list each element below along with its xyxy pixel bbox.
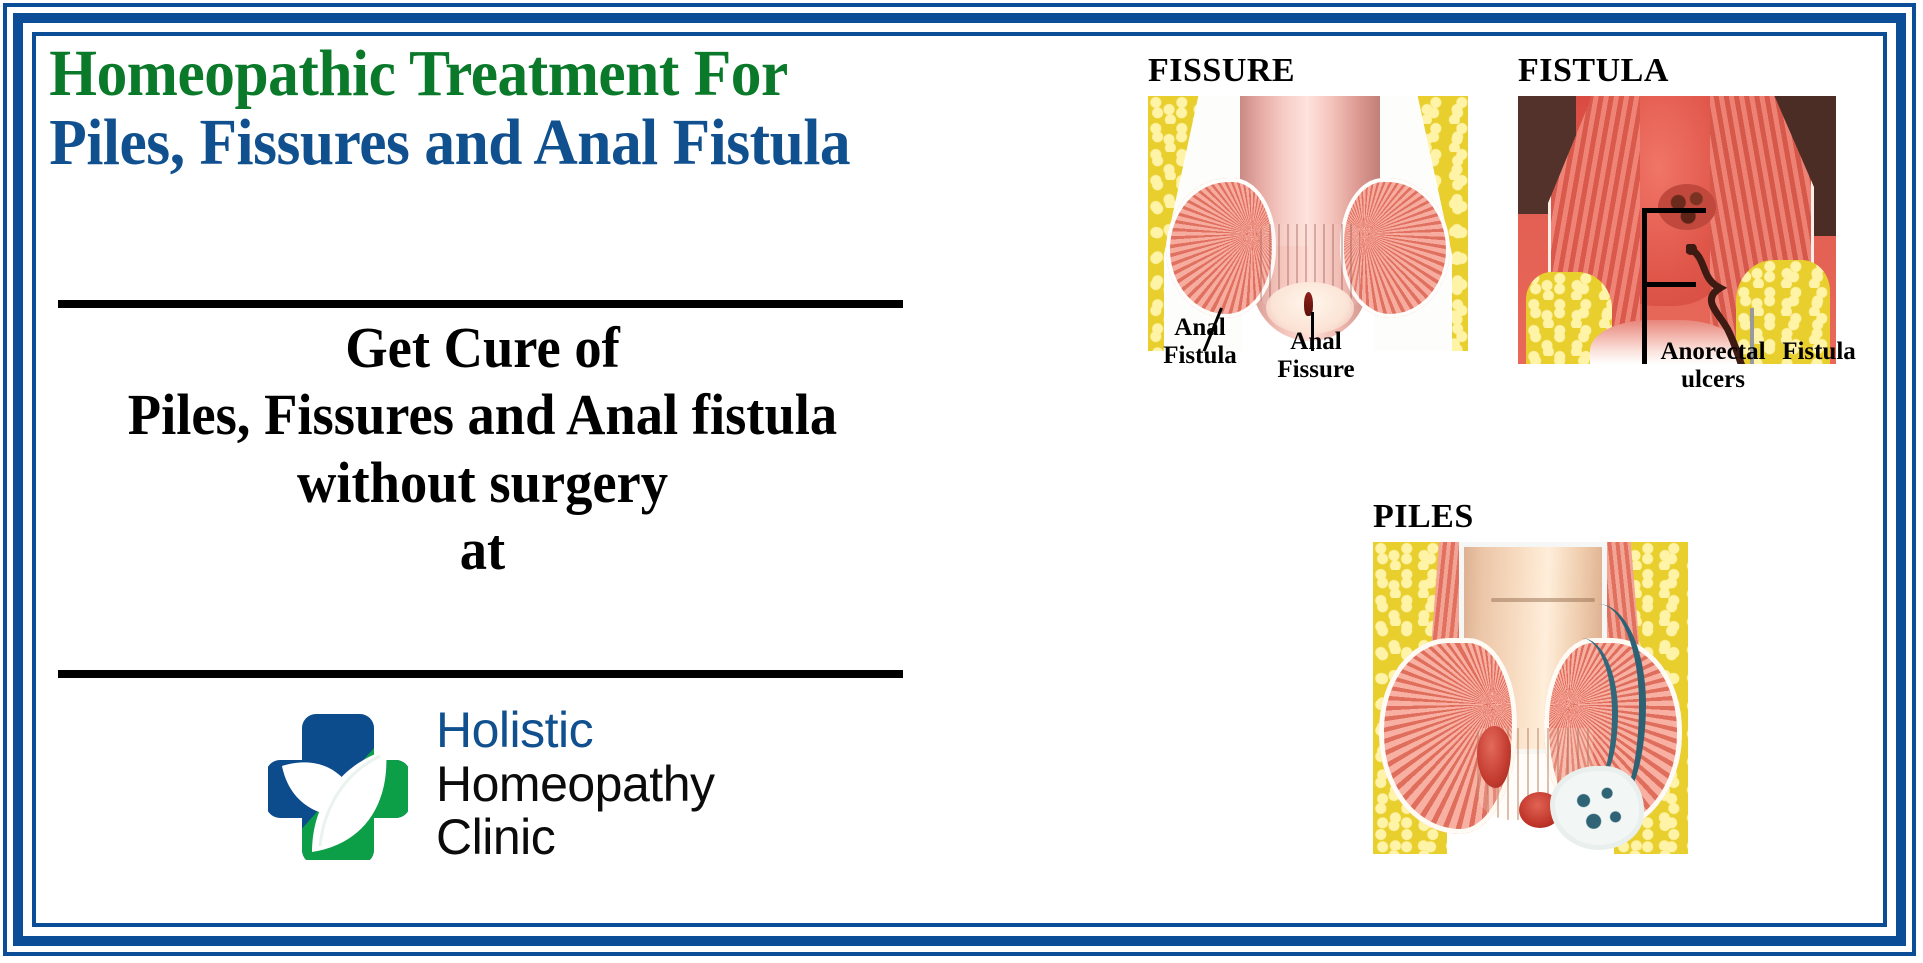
anatomy-illustration-fissure: [1148, 96, 1468, 351]
figure-panel-piles: PILES: [1373, 498, 1703, 854]
caption-anal-fistula: Anal Fistula: [1140, 314, 1260, 369]
anorectal-ulcer-marker: [1658, 184, 1716, 230]
figure-panel-fistula: FISTULA Anorectal ulcers Fi: [1518, 52, 1848, 364]
caption-anorectal-ulcers-line-2: ulcers: [1638, 366, 1788, 394]
divider-bottom: [58, 670, 903, 678]
headline-line-1: Homeopathic Treatment For: [49, 42, 1016, 107]
clinic-name-line-3: Clinic: [436, 811, 715, 865]
poster-root: Homeopathic Treatment For Piles, Fissure…: [0, 0, 1923, 963]
caption-anal-fissure: Anal Fissure: [1256, 328, 1376, 383]
divider-top: [58, 300, 903, 308]
body-line-3: without surgery: [67, 449, 899, 516]
body-line-2: Piles, Fissures and Anal fistula: [67, 381, 899, 448]
dilated-vein-cluster: [1550, 766, 1644, 850]
clinic-name-line-2: Homeopathy: [436, 758, 715, 812]
figure-title-fissure: FISSURE: [1148, 52, 1488, 90]
figure-title-fistula: FISTULA: [1518, 52, 1848, 90]
caption-anal-fistula-line-2: Fistula: [1140, 342, 1260, 370]
body-line-1: Get Cure of: [67, 314, 899, 381]
left-content-column: Homeopathic Treatment For Piles, Fissure…: [40, 42, 1090, 917]
body-message: Get Cure of Piles, Fissures and Anal fis…: [67, 314, 899, 583]
medical-cross-with-leaves-icon: [268, 710, 408, 860]
body-line-4: at: [67, 516, 899, 583]
internal-hemorrhoid-node: [1477, 726, 1511, 788]
anatomy-illustration-piles: [1373, 542, 1688, 854]
anatomy-illustration-fistula: [1518, 96, 1836, 364]
leader-line-ulcer-lower: [1642, 282, 1696, 287]
caption-fistula: Fistula: [1764, 338, 1874, 366]
caption-anal-fissure-line-2: Fissure: [1256, 356, 1376, 384]
caption-anal-fistula-line-1: Anal: [1140, 314, 1260, 342]
caption-anal-fissure-line-1: Anal: [1256, 328, 1376, 356]
figure-title-piles: PILES: [1373, 498, 1703, 536]
clinic-name: Holistic Homeopathy Clinic: [436, 704, 715, 865]
figure-panel-fissure: FISSURE Anal Fistula Anal Fissure: [1148, 52, 1488, 351]
mucosal-fold: [1491, 598, 1595, 602]
clinic-logo: Holistic Homeopathy Clinic: [268, 687, 888, 882]
caption-fistula-line-1: Fistula: [1764, 338, 1874, 366]
leader-line-ulcer-upper: [1642, 208, 1706, 213]
page-title: Homeopathic Treatment For Piles, Fissure…: [40, 42, 1017, 175]
headline-line-2: Piles, Fissures and Anal Fistula: [49, 111, 1016, 176]
clinic-name-line-1: Holistic: [436, 704, 715, 758]
